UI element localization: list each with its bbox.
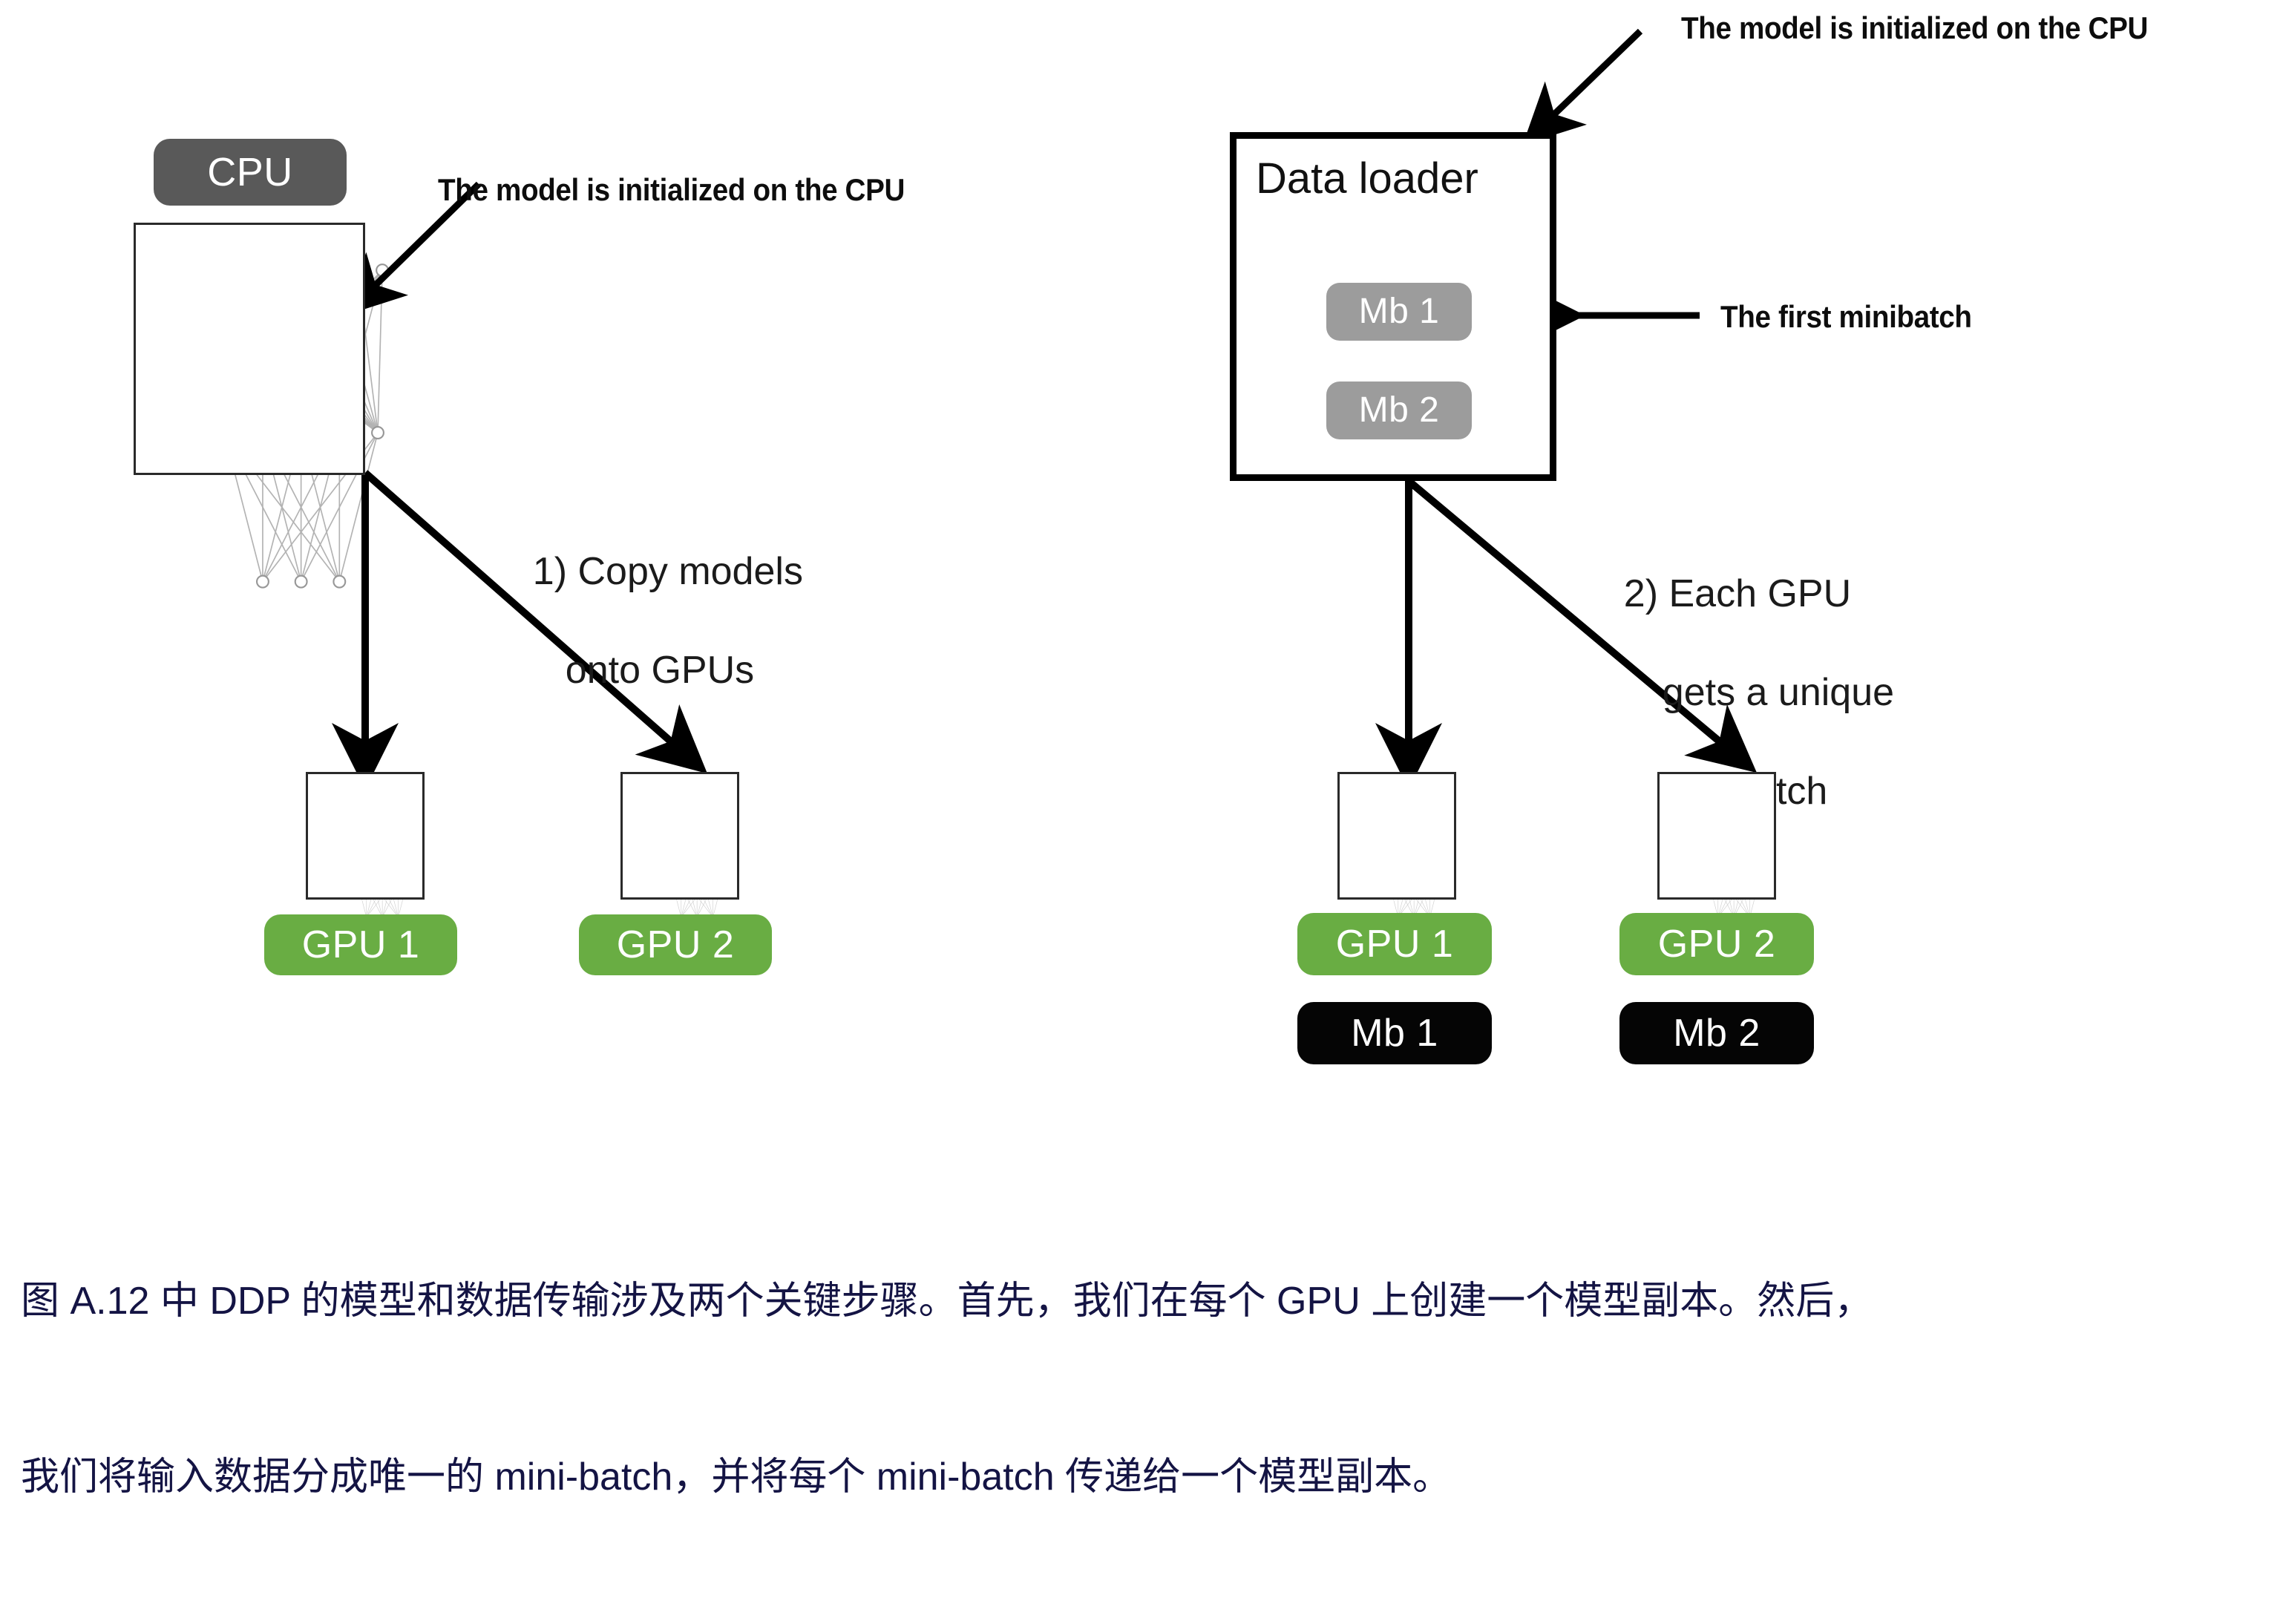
caption-line-1: 图 A.12 中 DDP 的模型和数据传输涉及两个关键步骤。首先，我们在每个 G… [21, 1272, 2277, 1331]
gpu2-model-box-right [1657, 772, 1776, 900]
step1-label: 1) Copy models onto GPUs [490, 497, 803, 744]
gpu1-model-box-left [306, 772, 425, 900]
step1-line2: onto GPUs [566, 646, 754, 695]
gpu1-minibatch-label: Mb 1 [1351, 1014, 1438, 1052]
cpu-chip: CPU [154, 139, 347, 206]
minibatch-chip-1-label: Mb 1 [1359, 294, 1440, 330]
gpu2-chip-left: GPU 2 [579, 914, 772, 975]
gpu1-chip-left: GPU 1 [264, 914, 457, 975]
gpu2-chip-right: GPU 2 [1619, 913, 1814, 975]
caption-line-2: 我们将输入数据分成唯一的 mini-batch，并将每个 mini-batch … [21, 1448, 2277, 1507]
minibatch-chip-2: Mb 2 [1326, 382, 1472, 439]
cpu-chip-label: CPU [207, 152, 293, 192]
gpu2-model-box-left [620, 772, 739, 900]
gpu1-chip-right: GPU 1 [1297, 913, 1492, 975]
figure-canvas: CPU The model is initialized on the CPU … [0, 0, 2283, 1286]
first-minibatch-annotation: The first minibatch [1720, 299, 1972, 334]
left-cpu-annotation: The model is initialized on the CPU [438, 172, 905, 207]
gpu1-model-box-right [1337, 772, 1456, 900]
cpu-model-box [134, 223, 365, 475]
minibatch-chip-2-label: Mb 2 [1359, 393, 1440, 428]
gpu2-chip-label-left: GPU 2 [617, 926, 735, 964]
data-loader-title: Data loader [1256, 157, 1478, 200]
minibatch-chip-1: Mb 1 [1326, 283, 1472, 341]
gpu2-minibatch-label: Mb 2 [1673, 1014, 1760, 1052]
figure-caption: 图 A.12 中 DDP 的模型和数据传输涉及两个关键步骤。首先，我们在每个 G… [21, 1155, 2277, 1624]
step2-line1: 2) Each GPU [1624, 572, 1851, 615]
right-annotation-arrow [1553, 31, 1640, 115]
gpu1-minibatch-chip: Mb 1 [1297, 1002, 1492, 1064]
gpu2-chip-label-right: GPU 2 [1658, 925, 1776, 963]
gpu1-chip-label-left: GPU 1 [302, 926, 420, 964]
gpu1-chip-label-right: GPU 1 [1336, 925, 1454, 963]
gpu2-minibatch-chip: Mb 2 [1619, 1002, 1814, 1064]
step2-line2: gets a unique [1663, 668, 1894, 718]
right-cpu-annotation: The model is initialized on the CPU [1681, 10, 2148, 45]
step1-line1: 1) Copy models [533, 550, 803, 593]
